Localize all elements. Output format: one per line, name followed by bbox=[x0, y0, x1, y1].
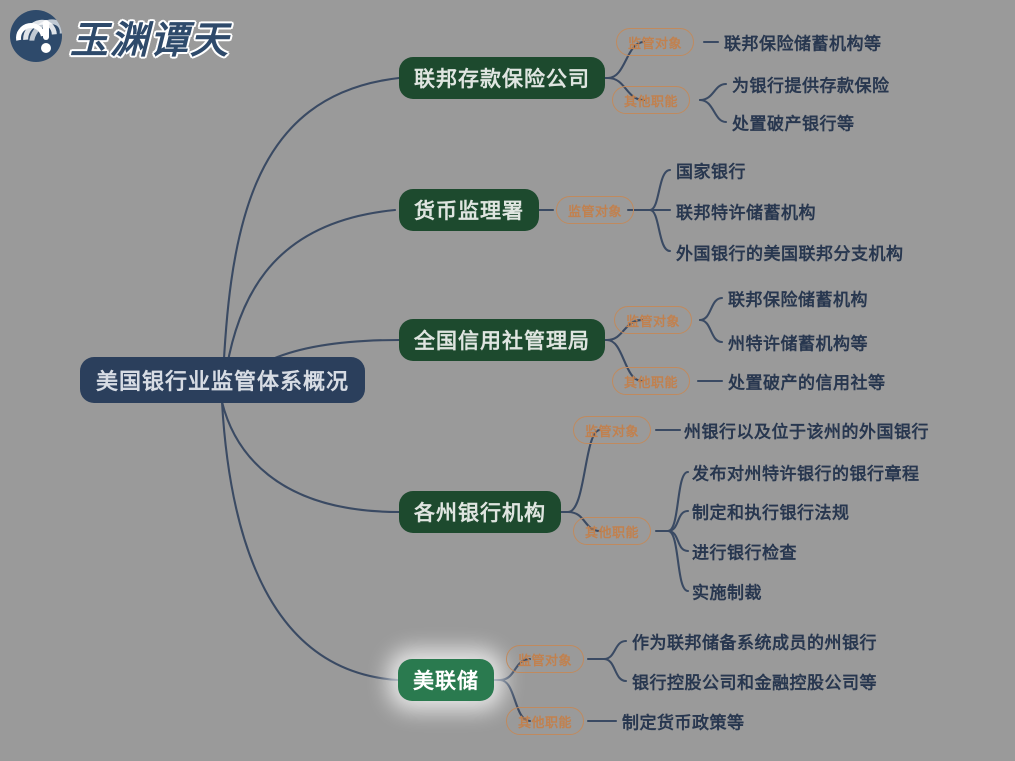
branch-node-5-label: 美联储 bbox=[413, 665, 479, 695]
pill-label: 监管对象 bbox=[626, 311, 680, 330]
branch-node-2[interactable]: 货币监理署 bbox=[399, 189, 539, 231]
leaf-item[interactable]: 制定和执行银行法规 bbox=[692, 499, 850, 524]
root-to-branch-4 bbox=[222, 402, 399, 512]
leaf-item[interactable]: 国家银行 bbox=[676, 158, 746, 183]
branch-1-group-1-pill[interactable]: 监管对象 bbox=[616, 28, 694, 56]
b1-g2-leaf1 bbox=[700, 84, 726, 100]
pill-label: 监管对象 bbox=[628, 33, 682, 52]
leaf-item[interactable]: 实施制裁 bbox=[692, 579, 762, 604]
branch-3-group-1-pill[interactable]: 监管对象 bbox=[614, 306, 692, 334]
b4-g2-leaf3 bbox=[668, 531, 688, 551]
pill-label: 监管对象 bbox=[568, 201, 622, 220]
branch-node-1-label: 联邦存款保险公司 bbox=[414, 63, 590, 93]
b3-g1-leaf2 bbox=[700, 320, 722, 342]
b4-g2-leaf2 bbox=[668, 511, 688, 531]
branch-node-4[interactable]: 各州银行机构 bbox=[399, 491, 561, 533]
pill-label: 其他职能 bbox=[624, 372, 678, 391]
leaf-item[interactable]: 联邦保险储蓄机构 bbox=[728, 286, 868, 311]
leaf-item[interactable]: 外国银行的美国联邦分支机构 bbox=[676, 240, 904, 265]
branch-node-2-label: 货币监理署 bbox=[414, 195, 524, 225]
leaf-item[interactable]: 进行银行检查 bbox=[692, 539, 797, 564]
pill-label: 监管对象 bbox=[518, 650, 572, 669]
b2-leaf1 bbox=[650, 170, 670, 210]
leaf-item[interactable]: 制定货币政策等 bbox=[622, 709, 745, 734]
wave-exclamation-logo-icon bbox=[10, 10, 62, 62]
b4-g2-leaf1 bbox=[668, 472, 688, 531]
leaf-item[interactable]: 为银行提供存款保险 bbox=[732, 72, 890, 97]
b2-leaf3 bbox=[650, 210, 670, 251]
branch-1-group-2-pill[interactable]: 其他职能 bbox=[612, 86, 690, 114]
b5-g1-leaf1 bbox=[604, 641, 626, 659]
leaf-item[interactable]: 作为联邦储备系统成员的州银行 bbox=[632, 629, 877, 654]
branch-3-group-2-pill[interactable]: 其他职能 bbox=[612, 367, 690, 395]
pill-label: 其他职能 bbox=[624, 91, 678, 110]
pill-label: 其他职能 bbox=[518, 712, 572, 731]
leaf-item[interactable]: 处置破产银行等 bbox=[732, 110, 855, 135]
root-node-label: 美国银行业监管体系概况 bbox=[96, 364, 349, 396]
branch-4-group-1-pill[interactable]: 监管对象 bbox=[573, 416, 651, 444]
mindmap-canvas: 玉渊谭天 bbox=[0, 0, 1015, 761]
branch-node-3[interactable]: 全国信用社管理局 bbox=[399, 319, 605, 361]
pill-label: 其他职能 bbox=[585, 522, 639, 541]
pill-label: 监管对象 bbox=[585, 421, 639, 440]
branch-node-3-label: 全国信用社管理局 bbox=[414, 325, 590, 355]
leaf-item[interactable]: 联邦特许储蓄机构 bbox=[676, 199, 816, 224]
branch-5-group-1-pill[interactable]: 监管对象 bbox=[506, 645, 584, 673]
branch-node-5[interactable]: 美联储 bbox=[398, 659, 494, 701]
b3-g1-leaf1 bbox=[700, 298, 722, 320]
branch-2-group-1-pill[interactable]: 监管对象 bbox=[556, 196, 634, 224]
leaf-item[interactable]: 联邦保险储蓄机构等 bbox=[724, 30, 882, 55]
root-node[interactable]: 美国银行业监管体系概况 bbox=[80, 357, 365, 403]
b5-g1-leaf2 bbox=[604, 659, 626, 681]
leaf-item[interactable]: 发布对州特许银行的银行章程 bbox=[692, 460, 920, 485]
b4-g2-leaf4 bbox=[668, 531, 688, 591]
branch-4-group-2-pill[interactable]: 其他职能 bbox=[573, 517, 651, 545]
root-to-branch-1 bbox=[222, 78, 399, 402]
branch-5-group-2-pill[interactable]: 其他职能 bbox=[506, 707, 584, 735]
leaf-item[interactable]: 银行控股公司和金融控股公司等 bbox=[632, 669, 877, 694]
watermark-label: 玉渊谭天 bbox=[70, 9, 230, 64]
branch-node-4-label: 各州银行机构 bbox=[414, 497, 546, 527]
channel-watermark: 玉渊谭天 bbox=[10, 8, 230, 64]
root-to-branch-5 bbox=[222, 402, 398, 680]
b1-g2-leaf2 bbox=[700, 100, 726, 122]
leaf-item[interactable]: 处置破产的信用社等 bbox=[728, 369, 886, 394]
branch-node-1[interactable]: 联邦存款保险公司 bbox=[399, 57, 605, 99]
leaf-item[interactable]: 州特许储蓄机构等 bbox=[728, 330, 868, 355]
leaf-item[interactable]: 州银行以及位于该州的外国银行 bbox=[684, 418, 929, 443]
